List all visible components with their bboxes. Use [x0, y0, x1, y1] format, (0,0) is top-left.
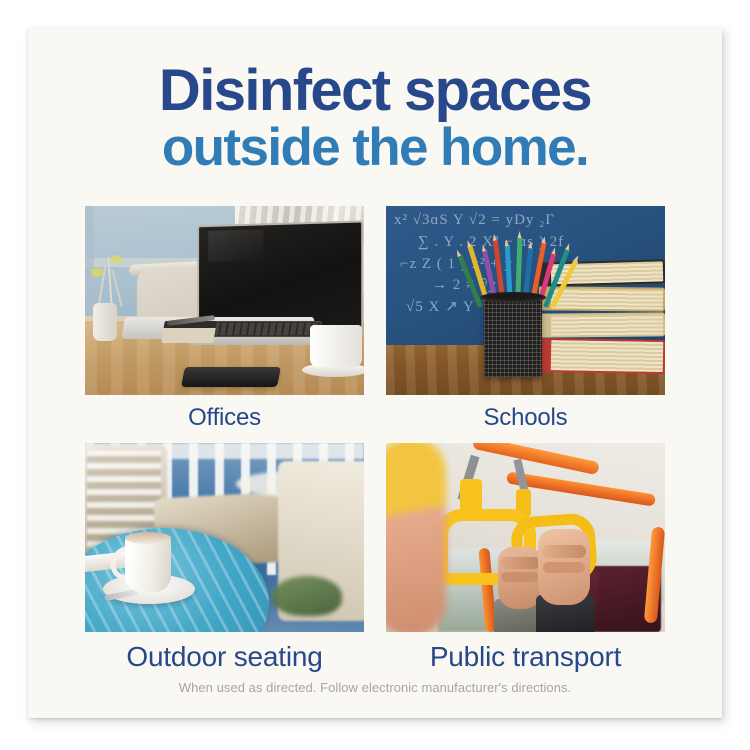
- headline-line-2: outside the home.: [28, 122, 722, 174]
- grid-row-top: Offices x² √3ɑS Y √2 = yDy ₂Γ ∑ . Y . 2 …: [85, 206, 665, 432]
- caption-outdoor-seating: Outdoor seating: [85, 641, 364, 673]
- flower-bloom-secondary-icon: [111, 255, 122, 263]
- outdoor-cafe-table-photo: [85, 443, 364, 632]
- chalk-line-1: x² √3ɑS Y √2 = yDy ₂Γ: [394, 210, 659, 232]
- poster-canvas: Disinfect spaces outside the home.: [0, 0, 750, 750]
- book-bottom-red: [539, 338, 665, 374]
- mesh-pencil-cup: [484, 299, 542, 377]
- coffee-cup: [310, 325, 362, 367]
- caption-offices: Offices: [85, 404, 364, 432]
- office-desk-laptop-photo: [85, 206, 364, 395]
- caption-schools: Schools: [386, 404, 665, 432]
- headline-line-1: Disinfect spaces: [28, 62, 722, 119]
- grid-cell-outdoor-seating: Outdoor seating: [85, 443, 364, 673]
- smartphone: [181, 367, 281, 387]
- cafe-coffee-cup: [125, 538, 171, 592]
- hand-gripping-strap-2: [538, 529, 590, 605]
- grid-cell-offices: Offices: [85, 206, 364, 432]
- diffuser-vase: [93, 303, 117, 341]
- grid-cell-schools: x² √3ɑS Y √2 = yDy ₂Γ ∑ . Y . 2 X² ⌐ ɑs …: [386, 206, 665, 432]
- poster-card: Disinfect spaces outside the home.: [28, 28, 722, 718]
- footnote-disclaimer: When used as directed. Follow electronic…: [28, 680, 722, 695]
- school-chalkboard-pencils-photo: x² √3ɑS Y √2 = yDy ₂Γ ∑ . Y . 2 X² ⌐ ɑs …: [386, 206, 665, 395]
- book-third: [539, 312, 665, 337]
- page-title: Disinfect spaces outside the home.: [28, 62, 722, 175]
- pencil-cup-rim: [480, 292, 546, 303]
- bus-interior-handstraps-photo: [386, 443, 665, 632]
- cup-rim: [125, 532, 171, 544]
- shrub: [272, 576, 342, 616]
- strap-clamp: [460, 479, 482, 513]
- grid-row-bottom: Outdoor seating: [85, 443, 665, 673]
- foreground-blurred-hand: [386, 443, 446, 632]
- laptop-keyboard: [204, 321, 323, 337]
- grid-cell-public-transport: Public transport: [386, 443, 665, 673]
- scene-grid: Offices x² √3ɑS Y √2 = yDy ₂Γ ∑ . Y . 2 …: [85, 206, 665, 673]
- caption-public-transport: Public transport: [386, 641, 665, 673]
- flower-bloom-icon: [91, 268, 103, 277]
